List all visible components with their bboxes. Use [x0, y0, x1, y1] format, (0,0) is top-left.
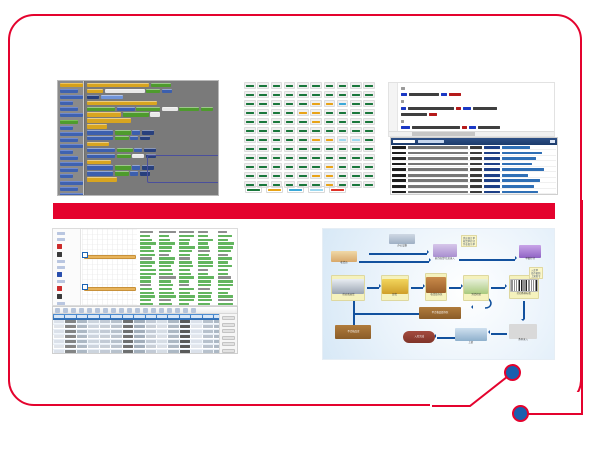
table-cell[interactable]	[77, 340, 87, 342]
toolbar-icon[interactable]	[143, 308, 148, 313]
toolbar-icon[interactable]	[95, 308, 100, 313]
code-block[interactable]	[115, 165, 131, 169]
status-grid-cell[interactable]	[363, 100, 375, 107]
flow-node-putaway[interactable]: 上架	[455, 325, 487, 347]
code-block[interactable]	[144, 148, 156, 152]
code-block-row[interactable]	[87, 136, 216, 140]
code-block[interactable]	[151, 83, 171, 87]
table-cell[interactable]	[180, 330, 190, 332]
table-row[interactable]	[53, 350, 237, 355]
flow-node-staff[interactable]: 收货员	[331, 249, 357, 267]
gantt-notes-panel[interactable]	[138, 229, 237, 305]
table-cell[interactable]	[157, 340, 167, 342]
code-block[interactable]	[115, 130, 131, 134]
status-grid-cell[interactable]	[271, 154, 283, 161]
status-grid-cell[interactable]	[324, 154, 336, 161]
panel-blocks-editor[interactable]	[57, 80, 219, 196]
panel-log-console[interactable]	[390, 137, 558, 195]
table-cell[interactable]	[54, 335, 64, 337]
palette-block[interactable]	[60, 193, 83, 196]
table-cell[interactable]	[65, 330, 75, 332]
status-grid-cell[interactable]	[337, 91, 349, 98]
table-cell[interactable]	[203, 320, 213, 322]
status-grid-cell[interactable]	[244, 136, 256, 143]
status-grid-cell[interactable]	[310, 172, 322, 179]
table-cell[interactable]	[180, 340, 190, 342]
status-grid-cell[interactable]	[284, 136, 296, 143]
status-grid-cell[interactable]	[257, 154, 269, 161]
status-grid-cell[interactable]	[337, 100, 349, 107]
status-grid-cell[interactable]	[257, 163, 269, 170]
flow-node-office[interactable]: 办公设备	[389, 233, 415, 249]
log-row[interactable]	[392, 168, 556, 172]
table-cell[interactable]	[65, 320, 75, 322]
table-cell[interactable]	[180, 345, 190, 347]
toolbar-icon[interactable]	[103, 308, 108, 313]
status-grid-cell[interactable]	[324, 91, 336, 98]
status-grid-cell[interactable]	[244, 145, 256, 152]
code-block-row[interactable]	[87, 130, 216, 134]
table-cell[interactable]	[77, 335, 87, 337]
code-block[interactable]	[130, 171, 138, 175]
code-block-row[interactable]	[87, 118, 216, 122]
table-cell[interactable]	[123, 345, 133, 347]
status-grid-cell[interactable]	[310, 109, 322, 116]
table-cell[interactable]	[134, 320, 144, 322]
blocks-canvas[interactable]	[85, 81, 218, 195]
status-grid-cell[interactable]	[324, 145, 336, 152]
status-grid-cell[interactable]	[297, 127, 309, 134]
status-grid-cell[interactable]	[310, 118, 322, 125]
table-cell[interactable]	[77, 320, 87, 322]
status-grid-cell[interactable]	[324, 118, 336, 125]
table-action-button[interactable]	[222, 323, 235, 327]
code-block[interactable]	[87, 148, 115, 152]
gantt-resource-column[interactable]	[53, 229, 81, 305]
table-cell[interactable]	[65, 340, 75, 342]
status-grid-cell[interactable]	[324, 136, 336, 143]
toolbar-icon[interactable]	[159, 308, 164, 313]
status-grid-cell[interactable]	[244, 154, 256, 161]
table-cell[interactable]	[100, 340, 110, 342]
status-grid-cell[interactable]	[337, 145, 349, 152]
gantt-timeline-grid[interactable]	[82, 229, 137, 305]
status-grid-cell[interactable]	[271, 127, 283, 134]
table-column-header[interactable]	[146, 315, 156, 318]
gantt-task-bar[interactable]	[84, 255, 136, 259]
toolbar-icon[interactable]	[119, 308, 124, 313]
table-cell[interactable]	[100, 335, 110, 337]
code-block[interactable]	[201, 107, 213, 111]
table-column-header[interactable]	[203, 315, 213, 318]
table-cell[interactable]	[54, 325, 64, 327]
code-block[interactable]	[142, 130, 154, 134]
toolbar-icon[interactable]	[79, 308, 84, 313]
status-grid-cell[interactable]	[363, 145, 375, 152]
status-grid-cell[interactable]	[363, 127, 375, 134]
table-cell[interactable]	[157, 325, 167, 327]
status-grid-cell[interactable]	[324, 163, 336, 170]
gantt-note-column[interactable]	[179, 231, 196, 306]
table-body[interactable]	[53, 320, 237, 355]
code-line[interactable]	[401, 126, 552, 131]
flow-node-forklift[interactable]: 卸货	[381, 275, 409, 301]
table-cell[interactable]	[88, 340, 98, 342]
table-cell[interactable]	[168, 350, 178, 352]
table-column-header[interactable]	[157, 315, 167, 318]
table-column-header[interactable]	[77, 315, 87, 318]
code-block[interactable]	[115, 136, 129, 140]
table-cell[interactable]	[203, 335, 213, 337]
status-grid-cell[interactable]	[271, 109, 283, 116]
status-grid-cell[interactable]	[257, 109, 269, 116]
code-block[interactable]	[87, 124, 107, 128]
palette-block[interactable]	[60, 187, 78, 191]
code-block-row[interactable]	[87, 95, 216, 99]
table-cell[interactable]	[111, 350, 121, 352]
status-grid-cell[interactable]	[310, 163, 322, 170]
table-column-header[interactable]	[65, 315, 75, 318]
code-block[interactable]	[87, 160, 111, 164]
table-cell[interactable]	[123, 320, 133, 322]
code-block[interactable]	[123, 112, 149, 116]
status-grid-cell[interactable]	[297, 145, 309, 152]
toolbar-icon[interactable]	[71, 308, 76, 313]
status-grid-cell[interactable]	[284, 118, 296, 125]
code-block[interactable]	[117, 148, 133, 152]
table-cell[interactable]	[88, 345, 98, 347]
palette-block[interactable]	[60, 101, 73, 105]
status-grid-cell[interactable]	[271, 82, 283, 89]
table-cell[interactable]	[191, 345, 201, 347]
table-cell[interactable]	[191, 325, 201, 327]
table-cell[interactable]	[168, 330, 178, 332]
log-row[interactable]	[392, 179, 556, 183]
table-cell[interactable]	[100, 320, 110, 322]
table-cell[interactable]	[191, 330, 201, 332]
status-grid-cell[interactable]	[271, 163, 283, 170]
code-block[interactable]	[146, 89, 160, 93]
status-grid-cell[interactable]	[310, 82, 322, 89]
table-cell[interactable]	[191, 320, 201, 322]
palette-block[interactable]	[60, 144, 83, 148]
status-grid-cell[interactable]	[284, 82, 296, 89]
table-cell[interactable]	[65, 345, 75, 347]
code-block[interactable]	[87, 177, 117, 181]
table-cell[interactable]	[54, 345, 64, 347]
status-grid-cell[interactable]	[324, 127, 336, 134]
table-action-button[interactable]	[222, 349, 235, 353]
toolbar-icon[interactable]	[63, 308, 68, 313]
toolbar-icon[interactable]	[127, 308, 132, 313]
status-grid-cell[interactable]	[337, 109, 349, 116]
table-cell[interactable]	[100, 345, 110, 347]
status-grid-cell[interactable]	[284, 145, 296, 152]
palette-block[interactable]	[60, 120, 78, 124]
table-cell[interactable]	[180, 320, 190, 322]
table-cell[interactable]	[146, 330, 156, 332]
table-cell[interactable]	[134, 345, 144, 347]
table-action-button[interactable]	[222, 316, 235, 320]
status-grid-cells[interactable]	[243, 80, 376, 188]
table-cell[interactable]	[88, 325, 98, 327]
table-column-header[interactable]	[168, 315, 178, 318]
table-column-header[interactable]	[88, 315, 98, 318]
status-grid-cell[interactable]	[350, 163, 362, 170]
status-grid-cell[interactable]	[337, 136, 349, 143]
code-block-row[interactable]	[87, 101, 216, 105]
status-grid-cell[interactable]	[244, 172, 256, 179]
status-grid-cell[interactable]	[337, 154, 349, 161]
code-block[interactable]	[117, 154, 131, 158]
status-grid-cell[interactable]	[350, 100, 362, 107]
palette-block[interactable]	[60, 89, 78, 93]
log-row[interactable]	[392, 163, 556, 167]
table-cell[interactable]	[180, 335, 190, 337]
table-cell[interactable]	[100, 325, 110, 327]
code-block[interactable]	[87, 95, 99, 99]
table-cell[interactable]	[203, 350, 213, 352]
table-cell[interactable]	[111, 340, 121, 342]
code-line[interactable]	[401, 119, 552, 124]
table-cell[interactable]	[157, 335, 167, 337]
table-toolbar[interactable]	[53, 307, 237, 314]
status-grid-cell[interactable]	[363, 118, 375, 125]
toolbar-icon[interactable]	[175, 308, 180, 313]
table-cell[interactable]	[191, 335, 201, 337]
code-block[interactable]	[132, 154, 144, 158]
flow-node-scan[interactable]: 条码录入	[509, 321, 537, 345]
status-grid-cell[interactable]	[350, 181, 362, 188]
status-grid-cell[interactable]	[271, 145, 283, 152]
toolbar-icon[interactable]	[191, 308, 196, 313]
flow-node-inspect[interactable]: 到货检验	[463, 275, 489, 301]
table-cell[interactable]	[54, 350, 64, 352]
code-block-row[interactable]	[87, 112, 216, 116]
palette-block[interactable]	[60, 95, 83, 99]
status-grid-cell[interactable]	[297, 118, 309, 125]
palette-block[interactable]	[60, 113, 83, 117]
status-grid-cell[interactable]	[244, 163, 256, 170]
table-cell[interactable]	[146, 320, 156, 322]
status-grid-cell[interactable]	[363, 181, 375, 188]
table-cell[interactable]	[88, 350, 98, 352]
code-block[interactable]	[87, 165, 113, 169]
code-block[interactable]	[130, 136, 138, 140]
status-grid-cell[interactable]	[284, 100, 296, 107]
code-block[interactable]	[105, 89, 145, 93]
table-cell[interactable]	[203, 345, 213, 347]
table-cell[interactable]	[65, 350, 75, 352]
code-block[interactable]	[150, 112, 160, 116]
code-block[interactable]	[136, 107, 160, 111]
table-cell[interactable]	[77, 330, 87, 332]
log-row[interactable]	[392, 174, 556, 178]
palette-block[interactable]	[60, 162, 83, 166]
gantt-note-column[interactable]	[140, 231, 157, 306]
status-grid-cell[interactable]	[284, 127, 296, 134]
status-grid-cell[interactable]	[271, 172, 283, 179]
log-row[interactable]	[392, 190, 556, 194]
status-grid-cell[interactable]	[271, 91, 283, 98]
table-cell[interactable]	[146, 325, 156, 327]
table-cell[interactable]	[134, 335, 144, 337]
code-block[interactable]	[117, 107, 135, 111]
status-grid-cell[interactable]	[244, 91, 256, 98]
status-grid-cell[interactable]	[271, 118, 283, 125]
code-line[interactable]	[401, 112, 552, 117]
status-grid-cell[interactable]	[363, 109, 375, 116]
code-block-row[interactable]	[87, 107, 216, 111]
code-block-row[interactable]	[87, 124, 216, 128]
table-action-button[interactable]	[222, 342, 235, 346]
status-grid-cell[interactable]	[310, 91, 322, 98]
table-cell[interactable]	[191, 350, 201, 352]
status-grid-cell[interactable]	[310, 154, 322, 161]
status-grid-cell[interactable]	[350, 91, 362, 98]
status-grid-cell[interactable]	[350, 136, 362, 143]
table-cell[interactable]	[168, 340, 178, 342]
panel-process-flow[interactable]: NG 办公设备收货员前台收货/信息录入单据打印供应商送货卸货收货暂存区到货检验打…	[322, 228, 555, 360]
table-column-header[interactable]	[123, 315, 133, 318]
flow-node-rejectzone[interactable]: 不合格品暂存区	[419, 307, 461, 319]
code-block[interactable]	[87, 118, 131, 122]
table-cell[interactable]	[77, 345, 87, 347]
status-grid-cell[interactable]	[363, 172, 375, 179]
palette-block[interactable]	[60, 107, 78, 111]
table-cell[interactable]	[123, 335, 133, 337]
table-cell[interactable]	[157, 350, 167, 352]
status-grid-cell[interactable]	[337, 172, 349, 179]
flow-node-terminal[interactable]: 前台收货/信息录入	[433, 241, 457, 263]
code-block[interactable]	[87, 83, 149, 87]
table-cell[interactable]	[100, 350, 110, 352]
table-cell[interactable]	[146, 350, 156, 352]
table-cell[interactable]	[111, 325, 121, 327]
status-grid-cell[interactable]	[297, 100, 309, 107]
flow-node-done[interactable]: 入库完成	[403, 331, 435, 343]
status-grid-cell[interactable]	[284, 91, 296, 98]
code-block-row[interactable]	[87, 142, 216, 146]
code-line[interactable]	[401, 99, 552, 104]
gantt-note-column[interactable]	[218, 231, 235, 306]
flow-node-truck[interactable]: 供应商送货	[331, 275, 365, 301]
log-row[interactable]	[392, 152, 556, 156]
log-row[interactable]	[392, 157, 556, 161]
table-cell[interactable]	[54, 330, 64, 332]
palette-block[interactable]	[60, 132, 83, 136]
status-grid-cell[interactable]	[257, 145, 269, 152]
log-row[interactable]	[392, 185, 556, 189]
status-grid-cell[interactable]	[271, 136, 283, 143]
table-cell[interactable]	[180, 325, 190, 327]
status-grid-cell[interactable]	[284, 109, 296, 116]
toolbar-icon[interactable]	[167, 308, 172, 313]
table-cell[interactable]	[191, 340, 201, 342]
table-cell[interactable]	[168, 325, 178, 327]
log-row[interactable]	[392, 146, 556, 150]
table-column-header[interactable]	[191, 315, 201, 318]
status-grid-cell[interactable]	[244, 82, 256, 89]
table-column-header[interactable]	[54, 315, 64, 318]
table-cell[interactable]	[88, 330, 98, 332]
status-grid-cell[interactable]	[244, 109, 256, 116]
palette-block[interactable]	[60, 83, 83, 87]
status-grid-cell[interactable]	[297, 82, 309, 89]
table-cell[interactable]	[134, 325, 144, 327]
table-cell[interactable]	[88, 320, 98, 322]
status-grid-cell[interactable]	[363, 163, 375, 170]
code-line[interactable]	[401, 93, 552, 98]
table-action-button[interactable]	[222, 336, 235, 340]
status-grid-cell[interactable]	[310, 100, 322, 107]
table-cell[interactable]	[54, 340, 64, 342]
table-cell[interactable]	[88, 335, 98, 337]
status-grid-cell[interactable]	[257, 172, 269, 179]
table-cell[interactable]	[111, 345, 121, 347]
status-grid-cell[interactable]	[324, 82, 336, 89]
table-cell[interactable]	[54, 320, 64, 322]
status-grid-cell[interactable]	[257, 127, 269, 134]
code-block[interactable]	[179, 107, 199, 111]
table-column-header[interactable]	[134, 315, 144, 318]
table-cell[interactable]	[180, 350, 190, 352]
close-icon[interactable]	[550, 140, 555, 143]
status-grid-cell[interactable]	[363, 136, 375, 143]
status-grid-cell[interactable]	[257, 91, 269, 98]
table-cell[interactable]	[203, 325, 213, 327]
palette-block[interactable]	[60, 156, 78, 160]
code-block[interactable]	[87, 136, 113, 140]
code-block[interactable]	[134, 148, 142, 152]
table-cell[interactable]	[157, 320, 167, 322]
palette-block[interactable]	[60, 126, 73, 130]
table-cell[interactable]	[168, 345, 178, 347]
status-grid-cell[interactable]	[350, 145, 362, 152]
code-block-row[interactable]	[87, 148, 216, 152]
table-cell[interactable]	[77, 325, 87, 327]
status-grid-cell[interactable]	[324, 172, 336, 179]
code-block[interactable]	[87, 89, 103, 93]
gantt-note-column[interactable]	[159, 231, 176, 306]
flow-node-cabinet[interactable]: 收货暂存区	[425, 273, 447, 301]
panel-data-table[interactable]	[52, 306, 238, 354]
gantt-task-bar[interactable]	[84, 287, 136, 291]
code-lines[interactable]	[401, 86, 552, 137]
status-grid-cell[interactable]	[297, 136, 309, 143]
palette-block[interactable]	[60, 150, 73, 154]
code-block[interactable]	[132, 130, 140, 134]
code-block[interactable]	[162, 89, 172, 93]
code-block[interactable]	[162, 107, 178, 111]
table-cell[interactable]	[111, 335, 121, 337]
status-grid-cell[interactable]	[324, 109, 336, 116]
table-cell[interactable]	[123, 350, 133, 352]
status-grid-cell[interactable]	[257, 100, 269, 107]
status-grid-cell[interactable]	[350, 82, 362, 89]
code-block[interactable]	[132, 165, 140, 169]
status-grid-cell[interactable]	[257, 118, 269, 125]
table-side-buttons[interactable]	[219, 314, 237, 353]
table-cell[interactable]	[123, 330, 133, 332]
code-block[interactable]	[87, 154, 115, 158]
table-cell[interactable]	[111, 320, 121, 322]
flow-node-rejectwh[interactable]: 不合格品库	[335, 325, 371, 339]
panel-code-editor[interactable]	[388, 82, 555, 137]
status-grid-cell[interactable]	[310, 136, 322, 143]
table-column-header[interactable]	[100, 315, 110, 318]
table-cell[interactable]	[168, 320, 178, 322]
